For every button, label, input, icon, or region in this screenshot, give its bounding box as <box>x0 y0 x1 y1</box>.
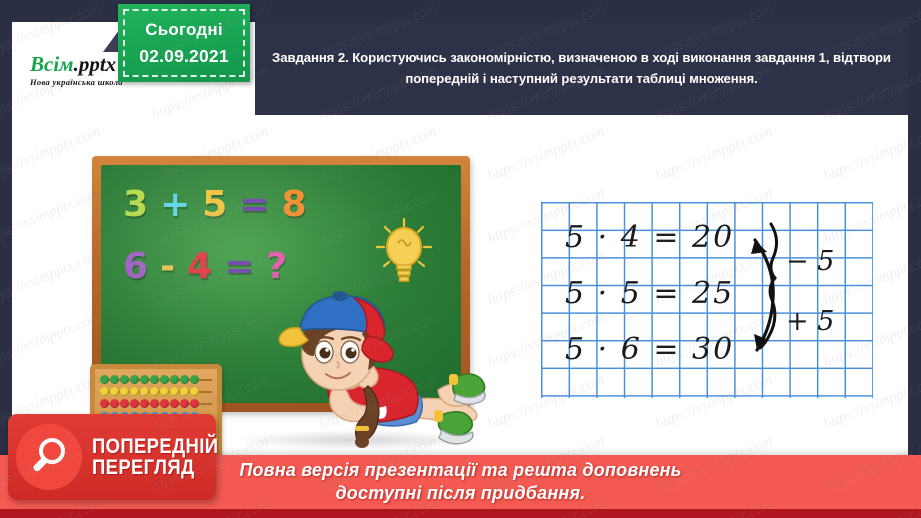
abacus-bead <box>180 399 189 408</box>
classroom-illustration: 3+5=8 6-4=? <box>92 152 512 452</box>
brand-logo-text: Всім.pptx <box>30 54 123 75</box>
slide-frame: Всім.pptx Нова українська школа Сьогодні… <box>0 0 921 518</box>
preview-badge-line-2: ПЕРЕГЛЯД <box>92 457 218 478</box>
chalk-token: - <box>160 249 175 285</box>
chalk-token: 8 <box>281 187 306 223</box>
abacus-bead <box>160 387 169 396</box>
double-arrow-brace <box>737 216 797 382</box>
grid-paper-worksheet: 5 · 4 = 20 5 · 5 = 25 5 · 6 = 30 − 5 + 5 <box>541 202 873 398</box>
worksheet-equation-1: 5 · 4 = 20 <box>565 220 734 255</box>
brand-logo-prefix: Всім <box>30 52 74 76</box>
abacus-bead <box>150 387 159 396</box>
task-header-panel: Завдання 2. Користуючись закономірністю,… <box>255 22 908 115</box>
abacus-bead <box>190 399 199 408</box>
magnifier-icon <box>16 424 82 490</box>
abacus-bead <box>150 375 159 384</box>
abacus-bead <box>170 375 179 384</box>
promo-banner-line-2: доступні після придбання. <box>239 482 681 505</box>
abacus-row <box>100 399 212 408</box>
child-character <box>242 274 502 452</box>
chalk-token: 6 <box>123 249 148 285</box>
abacus-bead <box>140 375 149 384</box>
brand-logo-suffix: .pptx <box>74 52 117 76</box>
brand-logo: Всім.pptx Нова українська школа <box>30 54 123 87</box>
abacus-bead <box>160 399 169 408</box>
promo-banner-text: Повна версія презентації та решта доповн… <box>239 459 681 505</box>
abacus-bead <box>110 399 119 408</box>
abacus-row <box>100 375 212 384</box>
abacus-bead <box>190 387 199 396</box>
date-badge: Сьогодні 02.09.2021 <box>118 4 250 82</box>
preview-badge-line-1: ПОПЕРЕДНІЙ <box>92 436 218 457</box>
abacus-bead <box>130 399 139 408</box>
abacus-bead <box>180 387 189 396</box>
worksheet-equation-3: 5 · 6 = 30 <box>565 332 734 367</box>
abacus-bead <box>100 399 109 408</box>
chalk-token: + <box>160 187 190 223</box>
abacus-bead <box>110 375 119 384</box>
abacus-bead <box>150 399 159 408</box>
abacus-bead <box>180 375 189 384</box>
task-instruction-text: Завдання 2. Користуючись закономірністю,… <box>269 48 894 89</box>
abacus-bead <box>100 387 109 396</box>
chalk-token: 5 <box>202 187 227 223</box>
abacus-bead <box>110 387 119 396</box>
preview-badge[interactable]: ПОПЕРЕДНІЙ ПЕРЕГЛЯД <box>8 414 216 500</box>
abacus-row <box>100 387 212 396</box>
abacus-bead <box>120 375 129 384</box>
abacus-bead <box>140 399 149 408</box>
preview-badge-label: ПОПЕРЕДНІЙ ПЕРЕГЛЯД <box>92 436 236 479</box>
chalk-token: 4 <box>187 249 212 285</box>
abacus-bead <box>170 387 179 396</box>
abacus-bead <box>100 375 109 384</box>
abacus-bead <box>130 387 139 396</box>
abacus-bead <box>190 375 199 384</box>
abacus-bead <box>160 375 169 384</box>
chalk-token: 3 <box>123 187 148 223</box>
date-badge-label: Сьогодні <box>145 17 223 43</box>
worksheet-equation-2: 5 · 5 = 25 <box>565 276 734 311</box>
promo-banner-line-1: Повна версія презентації та решта доповн… <box>239 459 681 482</box>
brand-logo-tagline: Нова українська школа <box>30 77 123 87</box>
abacus-bead <box>120 399 129 408</box>
abacus-bead <box>170 399 179 408</box>
abacus-bead <box>120 387 129 396</box>
abacus-bead <box>140 387 149 396</box>
date-badge-value: 02.09.2021 <box>139 43 229 69</box>
abacus-bead <box>130 375 139 384</box>
chalk-token: = <box>239 187 269 223</box>
chalkboard-equation-1: 3+5=8 <box>123 187 307 223</box>
